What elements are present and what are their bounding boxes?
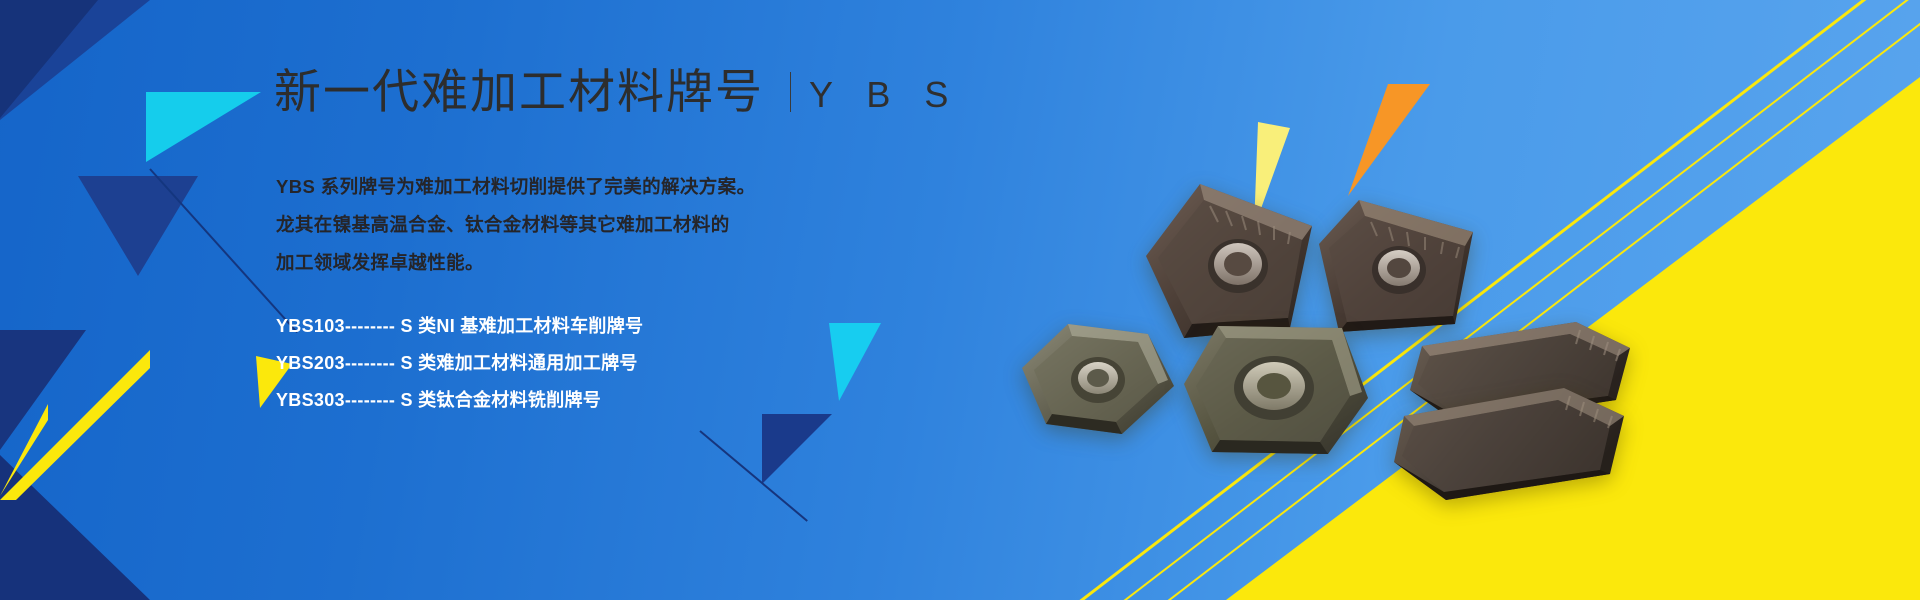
list-item: YBS303-------- S 类钛合金材料铣削牌号 [276,382,643,419]
product-grade-list: YBS103-------- S 类NI 基难加工材料车削牌号 YBS203--… [276,308,643,419]
list-item: YBS203-------- S 类难加工材料通用加工牌号 [276,345,643,382]
description-paragraph: YBS 系列牌号为难加工材料切削提供了完美的解决方案。 龙其在镍基高温合金、钛合… [276,168,755,282]
description-line: YBS 系列牌号为难加工材料切削提供了完美的解决方案。 [276,168,755,206]
list-item: YBS103-------- S 类NI 基难加工材料车削牌号 [276,308,643,345]
promo-banner: 新一代难加工材料牌号 Y B S YBS 系列牌号为难加工材料切削提供了完美的解… [0,0,1920,600]
description-line: 加工领域发挥卓越性能。 [276,244,755,282]
insert-pentagon [1018,320,1180,448]
headline-chinese: 新一代难加工材料牌号 [274,68,764,115]
insert-square-center [1178,322,1374,468]
headline-brand: Y B S [809,77,960,115]
page-title: 新一代难加工材料牌号 Y B S [274,68,960,115]
insert-bar-lower [1388,382,1632,512]
headline-divider [790,72,791,112]
description-line: 龙其在镍基高温合金、钛合金材料等其它难加工材料的 [276,206,755,244]
